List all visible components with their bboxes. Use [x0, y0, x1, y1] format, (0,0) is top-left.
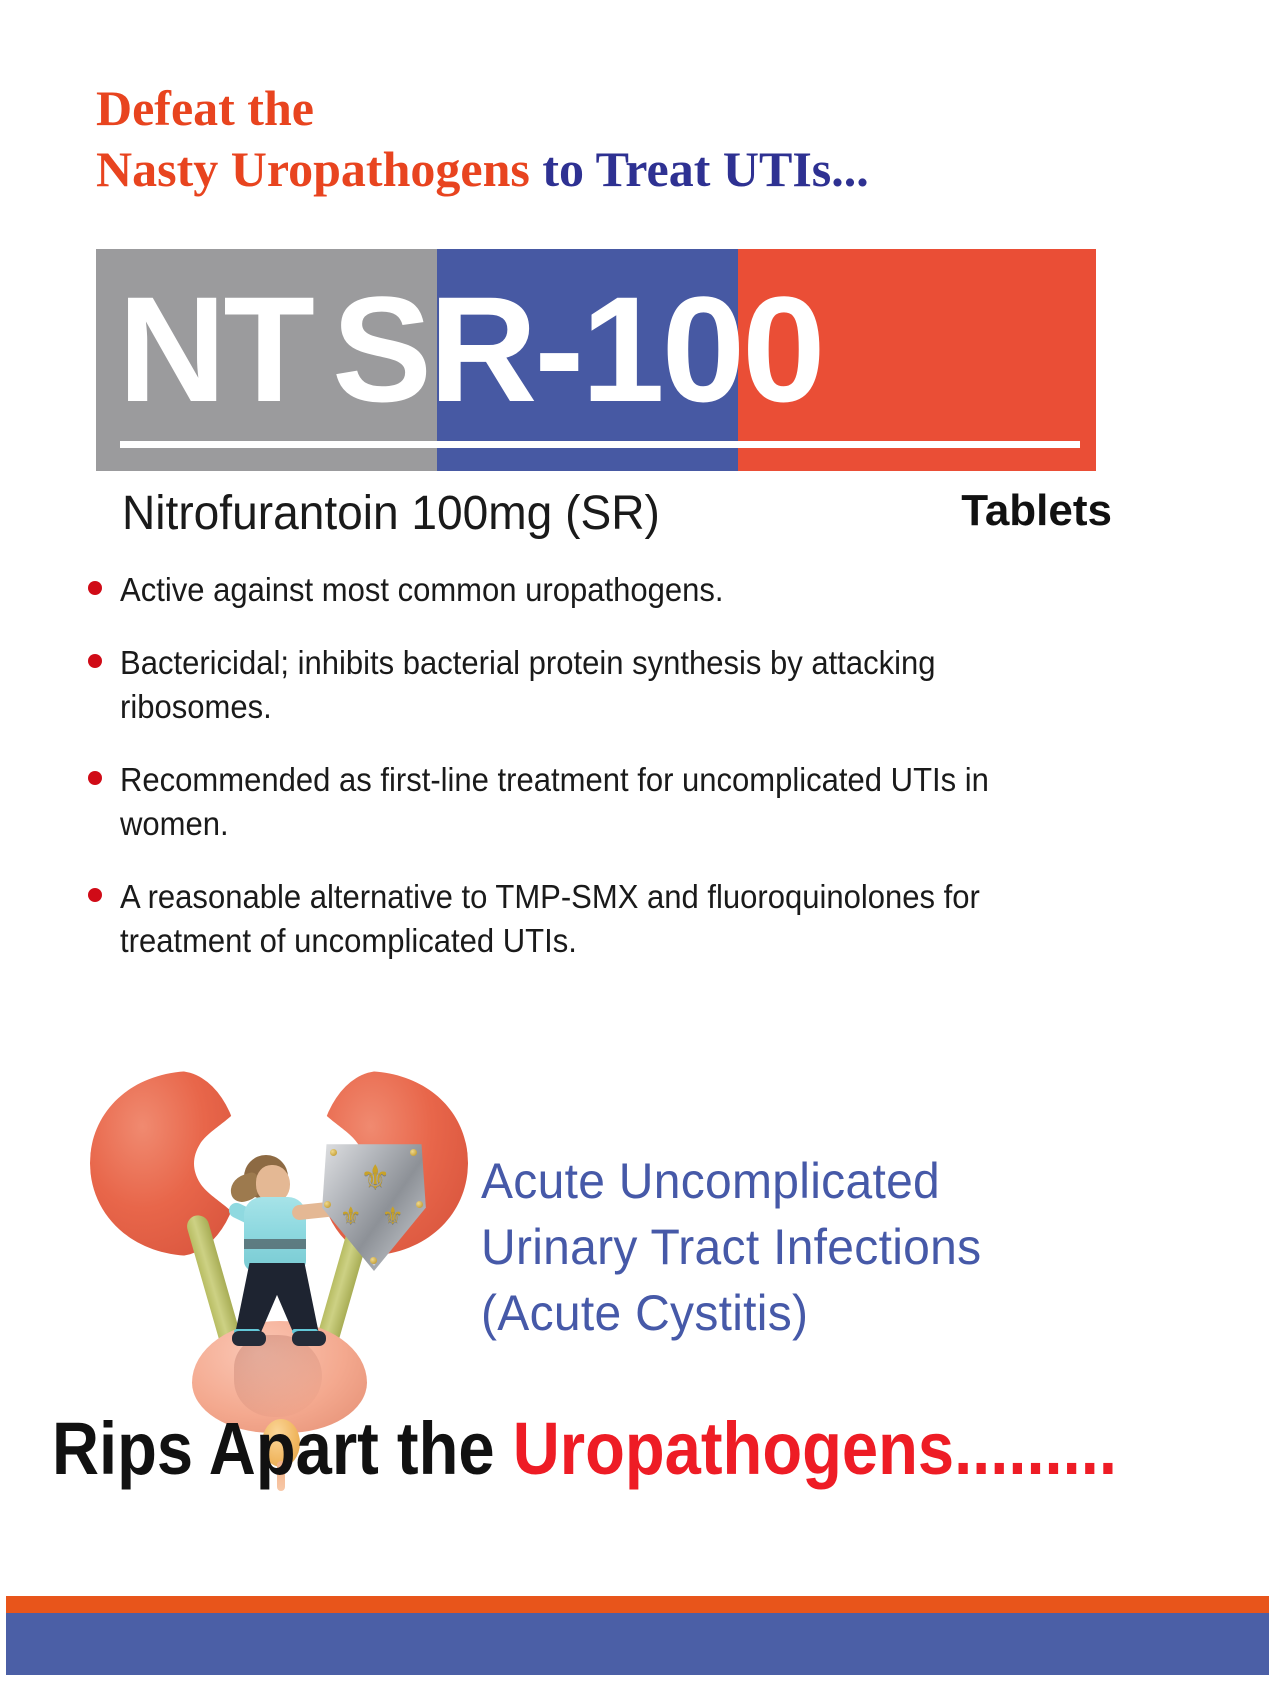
tagline: Rips Apart the Uropathogens.........	[52, 1410, 1073, 1488]
figure-legs	[234, 1263, 320, 1339]
urinary-tract-illustration: ⚜ ⚜ ⚜	[84, 1063, 474, 1423]
headline-line-2: Nasty Uropathogens to Treat UTIs...	[96, 139, 1156, 200]
figure-left-shoe	[232, 1331, 266, 1346]
product-line: Nitrofurantoin 100mg (SR) Tablets	[122, 486, 1112, 536]
shield-rivet	[370, 1257, 377, 1264]
bullet-dot-icon	[88, 654, 102, 668]
list-item: Recommended as first-line treatment for …	[88, 758, 1098, 847]
shield-rivet	[324, 1201, 331, 1208]
headline-line-1: Defeat the	[96, 78, 1156, 139]
headline-emphasis-text: Nasty Uropathogens	[96, 141, 530, 197]
claims-list: Active against most common uropathogens.…	[88, 568, 1098, 992]
bullet-dot-icon	[88, 888, 102, 902]
indication-block: Acute Uncomplicated Urinary Tract Infect…	[481, 1148, 1095, 1346]
brand-name-prefix: NT	[118, 265, 312, 433]
indication-line-1: Acute Uncomplicated	[481, 1148, 1095, 1214]
claim-text: A reasonable alternative to TMP-SMX and …	[120, 875, 1039, 964]
indication-line-2: Urinary Tract Infections	[481, 1214, 1095, 1280]
brand-name: NTSR-100	[96, 249, 1096, 471]
list-item: Bactericidal; inhibits bacterial protein…	[88, 641, 1098, 730]
dosage-form: Tablets	[961, 486, 1112, 536]
shield-rivet	[330, 1149, 337, 1156]
figure-right-shoe	[292, 1331, 326, 1346]
shield-rivet	[410, 1149, 417, 1156]
footer-orange-stripe	[6, 1596, 1269, 1613]
headline-suffix-text: to Treat UTIs...	[530, 141, 869, 197]
generic-name: Nitrofurantoin 100mg (SR)	[122, 486, 660, 541]
indication-line-3: (Acute Cystitis)	[481, 1280, 1095, 1346]
shield-rivet	[416, 1201, 423, 1208]
tagline-red-text: Uropathogens.........	[513, 1407, 1117, 1490]
fleur-de-lis-icon: ⚜	[340, 1205, 362, 1229]
fleur-de-lis-icon: ⚜	[382, 1205, 404, 1229]
fleur-de-lis-icon: ⚜	[360, 1161, 390, 1195]
bullet-dot-icon	[88, 771, 102, 785]
brand-banner: NTSR-100	[96, 249, 1096, 471]
claim-text: Active against most common uropathogens.	[120, 568, 1039, 613]
claim-text: Bactericidal; inhibits bacterial protein…	[120, 641, 1039, 730]
left-kidney-icon	[90, 1071, 240, 1256]
brand-name-suffix: SR-100	[332, 265, 823, 433]
list-item: A reasonable alternative to TMP-SMX and …	[88, 875, 1098, 964]
tagline-black-text: Rips Apart the	[52, 1407, 513, 1490]
shield-icon: ⚜ ⚜ ⚜	[320, 1139, 428, 1271]
headline-line-1-text: Defeat the	[96, 80, 314, 136]
bullet-dot-icon	[88, 581, 102, 595]
footer-blue-band	[6, 1613, 1269, 1675]
headline: Defeat the Nasty Uropathogens to Treat U…	[96, 78, 1156, 200]
figure-torso-band	[244, 1239, 306, 1249]
list-item: Active against most common uropathogens.	[88, 568, 1098, 613]
claim-text: Recommended as first-line treatment for …	[120, 758, 1039, 847]
brand-underline-rule	[120, 441, 1080, 448]
